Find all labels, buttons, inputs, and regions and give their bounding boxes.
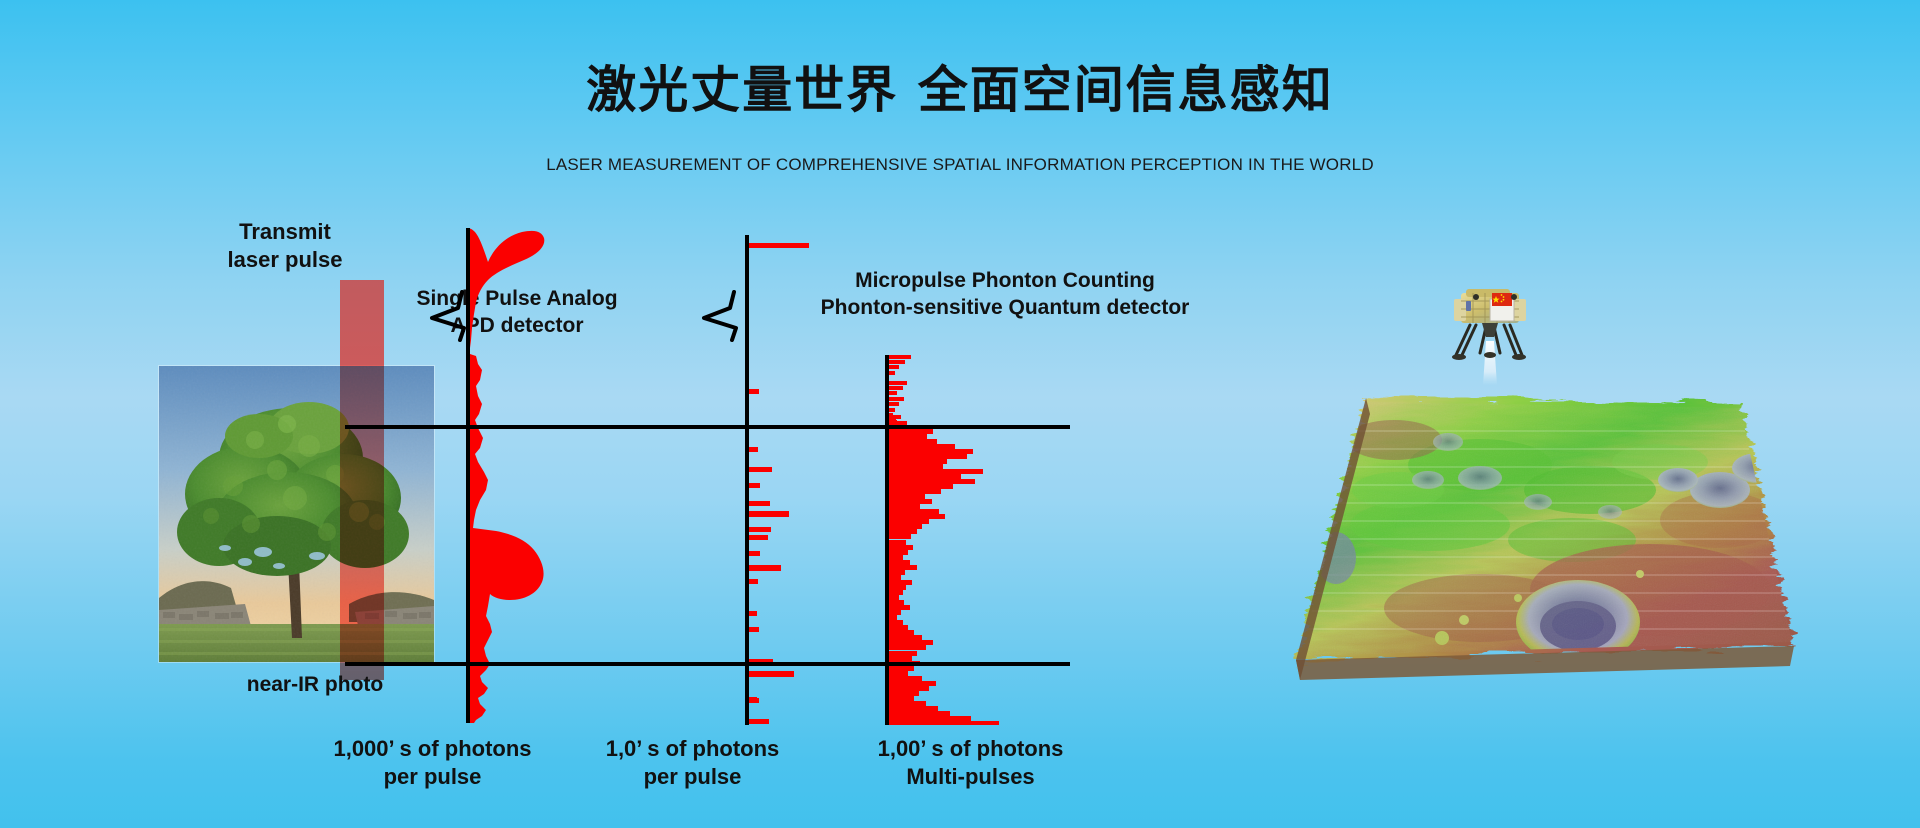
axis-break-left-1 — [428, 290, 468, 342]
canopy-reference-line — [345, 425, 1070, 429]
axis-caption-2-line1: 1,0’ s of photons — [590, 735, 795, 763]
axis-caption-2-line2: per pulse — [590, 763, 795, 791]
near-ir-photo-label: near-IR photo — [215, 672, 415, 699]
waveform-low-photon-count-tail — [747, 690, 787, 710]
micropulse-label-line1: Micropulse Phonton Counting — [780, 268, 1230, 295]
axis-caption-multi-pulse: 1,00’ s of photons Multi-pulses — [858, 735, 1083, 791]
waveform-multi-pulse-photon-counting — [887, 355, 1017, 725]
axis-caption-low-photon: 1,0’ s of photons per pulse — [590, 735, 795, 791]
waveform-multi-pulse-tail — [887, 672, 947, 728]
transmit-label-line1: Transmit — [205, 218, 365, 246]
axis-line-multi-pulse — [885, 355, 889, 725]
axis-caption-1-line2: per pulse — [310, 763, 555, 791]
axis-caption-1-line1: 1,000’ s of photons — [310, 735, 555, 763]
lunar-lander-model — [1430, 285, 1550, 385]
waveform-low-photon-count — [747, 235, 837, 725]
transmit-laser-pulse-label: Transmit laser pulse — [205, 218, 365, 274]
micropulse-detector-label: Micropulse Phonton Counting Phonton-sens… — [780, 268, 1230, 322]
page-subtitle: LASER MEASUREMENT OF COMPREHENSIVE SPATI… — [0, 155, 1920, 175]
waveform-single-pulse-analog — [466, 228, 611, 723]
axis-caption-single-pulse: 1,000’ s of photons per pulse — [310, 735, 555, 791]
axis-break-left-2 — [700, 290, 740, 342]
micropulse-label-line2: Phonton-sensitive Quantum detector — [780, 295, 1230, 322]
page-title: 激光丈量世界 全面空间信息感知 — [0, 50, 1920, 122]
near-ir-tree-photo — [159, 366, 434, 662]
axis-caption-3-line2: Multi-pulses — [858, 763, 1083, 791]
axis-line-low-photon — [745, 235, 749, 725]
transmit-label-line2: laser pulse — [205, 246, 365, 274]
poster-stage: 激光丈量世界 全面空间信息感知 LASER MEASUREMENT OF COM… — [0, 0, 1920, 828]
axis-caption-3-line1: 1,00’ s of photons — [858, 735, 1083, 763]
ground-reference-line — [345, 662, 1070, 666]
